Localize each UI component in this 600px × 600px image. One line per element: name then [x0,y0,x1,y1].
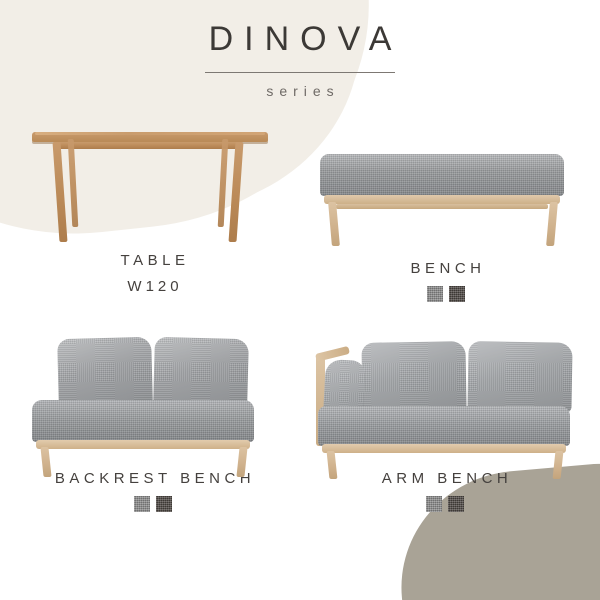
backrest-bench-image [18,330,288,470]
product-name-backrest-bench: BACKREST BENCH [18,470,288,487]
arm-bench-back-cushion-right [467,341,572,413]
swatch-dark-gray[interactable] [449,286,465,302]
backrest-bench-frame-rail [36,440,250,449]
backrest-cushion-left [57,337,153,407]
bench-image [306,140,586,260]
swatch-dark-gray[interactable] [448,496,464,512]
brand-title: DINOVA [0,22,600,56]
table-leg-back-left [68,139,79,227]
product-card-table[interactable]: TABLE W120 [18,112,288,295]
table-apron [58,142,240,149]
series-subtitle: series [0,83,600,99]
backrest-cushion-right [153,337,249,407]
table-image [18,112,288,252]
bench-stretcher [336,204,548,209]
arm-bench-leg-left [327,451,338,479]
bench-frame-rail [324,195,560,204]
table-leg-back-right [218,139,229,227]
swatch-group-arm-bench [300,496,590,512]
swatch-dark-gray[interactable] [156,496,172,512]
product-name-table: TABLE [18,252,288,269]
table-leg-front-left [53,142,68,242]
bench-leg-right [546,202,558,246]
swatch-light-gray[interactable] [134,496,150,512]
product-name-arm-bench: ARM BENCH [300,470,590,487]
arm-bench-frame-rail [322,444,566,453]
swatch-light-gray[interactable] [427,286,443,302]
product-card-backrest-bench[interactable]: BACKREST BENCH [18,330,288,512]
arm-bench-seat [318,406,570,446]
table-leg-front-right [229,142,244,242]
product-name-bench: BENCH [306,260,586,277]
swatch-group-backrest-bench [18,496,288,512]
swatch-light-gray[interactable] [426,496,442,512]
product-size-table: W120 [18,278,288,295]
swatch-group-bench [306,286,586,302]
backrest-bench-seat [32,400,254,442]
arm-bench-back-cushion-left [361,341,466,413]
catalog-page: DINOVA series TABLE W120 BENCH [0,0,600,600]
product-card-bench[interactable]: BENCH [306,140,586,302]
page-header: DINOVA series [0,22,600,99]
title-divider [205,72,395,73]
product-card-arm-bench[interactable]: ARM BENCH [300,330,590,512]
bench-seat-cushion [320,154,564,196]
arm-bench-image [300,330,590,470]
